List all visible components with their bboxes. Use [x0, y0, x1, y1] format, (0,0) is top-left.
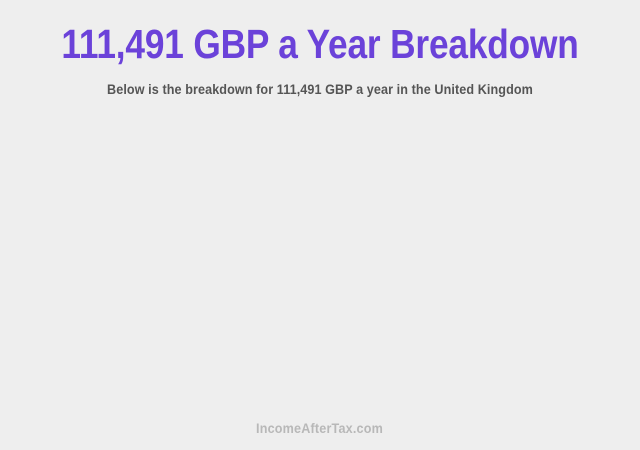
page-subtitle: Below is the breakdown for 111,491 GBP a…: [32, 67, 608, 98]
chart-area: [0, 112, 640, 407]
page-header: 111,491 GBP a Year Breakdown Below is th…: [0, 0, 640, 98]
breakdown-page: 111,491 GBP a Year Breakdown Below is th…: [0, 0, 640, 450]
page-footer: IncomeAfterTax.com: [0, 420, 640, 438]
site-watermark: IncomeAfterTax.com: [257, 420, 384, 437]
page-title: 111,491 GBP a Year Breakdown: [45, 21, 595, 67]
